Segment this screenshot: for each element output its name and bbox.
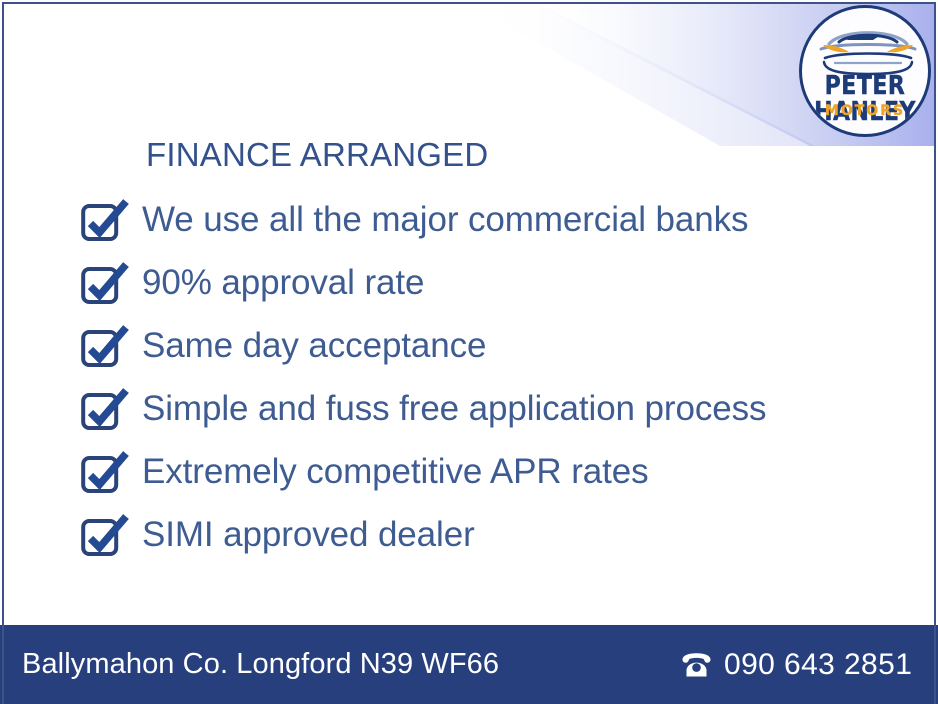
list-item: Extremely competitive APR rates — [80, 440, 900, 503]
list-item: Simple and fuss free application process — [80, 377, 900, 440]
list-item: Same day acceptance — [80, 314, 900, 377]
checkbox-checked-icon — [80, 324, 130, 368]
checkbox-checked-icon — [80, 513, 130, 557]
telephone-icon — [680, 652, 713, 678]
checkbox-checked-icon — [80, 198, 130, 242]
footer-contact-bar: Ballymahon Co. Longford N39 WF66 090 643… — [0, 625, 938, 704]
logo-badge: PETER HANLEY MOTORS — [799, 5, 931, 137]
list-item-label: SIMI approved dealer — [142, 517, 475, 552]
footer-phone-number: 090 643 2851 — [724, 648, 912, 682]
list-item-label: We use all the major commercial banks — [142, 202, 748, 237]
list-item-label: Simple and fuss free application process — [142, 391, 766, 426]
checkbox-checked-icon — [80, 387, 130, 431]
checkbox-checked-icon — [80, 261, 130, 305]
logo-submark: MOTORS — [802, 104, 928, 118]
footer-phone[interactable]: 090 643 2851 — [680, 648, 912, 682]
footer-address: Ballymahon Co. Longford N39 WF66 — [22, 648, 499, 681]
list-item: 90% approval rate — [80, 251, 900, 314]
list-item: SIMI approved dealer — [80, 503, 900, 566]
car-front-icon — [813, 22, 923, 78]
checkbox-checked-icon — [80, 450, 130, 494]
feature-list: We use all the major commercial banks 90… — [80, 188, 900, 566]
list-item-label: 90% approval rate — [142, 265, 424, 300]
list-item-label: Extremely competitive APR rates — [142, 454, 649, 489]
page-title: FINANCE ARRANGED — [146, 136, 488, 174]
list-item-label: Same day acceptance — [142, 328, 486, 363]
finance-arranged-poster: PETER HANLEY MOTORS FINANCE ARRANGED We … — [0, 0, 938, 704]
list-item: We use all the major commercial banks — [80, 188, 900, 251]
